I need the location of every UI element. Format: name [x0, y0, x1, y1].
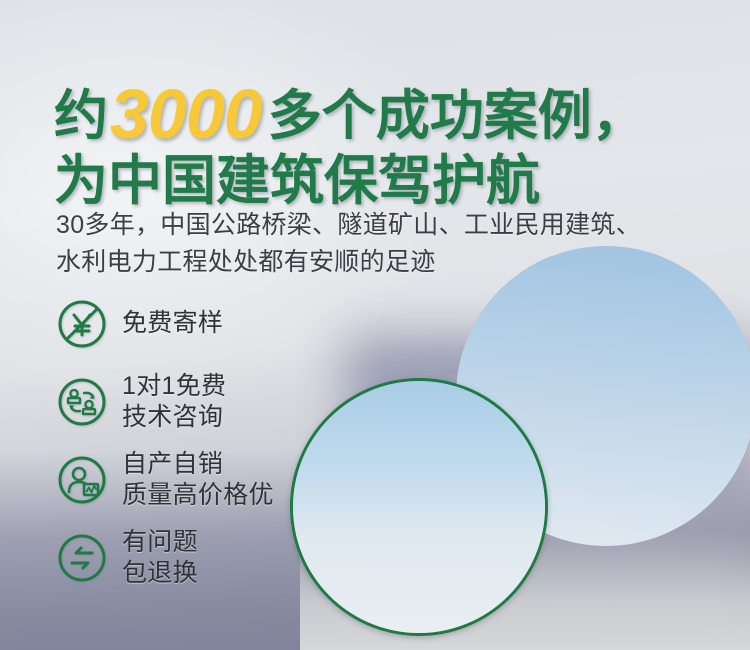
- headline: 约3000多个成功案例， 为中国建筑保驾护航: [54, 78, 646, 209]
- feature-label-line-2: 包退换: [122, 558, 198, 590]
- promo-banner: 约3000多个成功案例， 为中国建筑保驾护航 30多年，中国公路桥梁、隧道矿山、…: [0, 0, 750, 650]
- headline-line-2: 为中国建筑保驾护航: [54, 153, 646, 209]
- headline-line-1: 约3000多个成功案例，: [54, 78, 646, 151]
- subtitle: 30多年，中国公路桥梁、隧道矿山、工业民用建筑、 水利电力工程处处都有安顺的足迹: [56, 207, 716, 281]
- feature-label-line-2: 质量高价格优: [122, 480, 274, 512]
- headline-line2-text: 为中国建筑保驾护航: [54, 151, 540, 211]
- feature-item-self-produce: 自产自销 质量高价格优: [56, 450, 356, 510]
- subtitle-line-2: 水利电力工程处处都有安顺的足迹: [56, 244, 716, 281]
- feature-item-return-exchange: 有问题 包退换: [56, 528, 356, 588]
- feature-label-line-2: 技术咨询: [122, 402, 226, 434]
- feature-label-self-produce: 自产自销 质量高价格优: [122, 449, 274, 512]
- feature-label-line-1: 自产自销: [122, 449, 274, 481]
- feature-label-line-1: 免费寄样: [122, 308, 223, 340]
- no-fee-yuan-icon: [56, 298, 108, 350]
- one-on-one-consult-icon: [56, 376, 108, 428]
- feature-item-consult: 1对1免费 技术咨询: [56, 372, 356, 432]
- feature-label-line-1: 有问题: [122, 527, 198, 559]
- headline-number: 3000: [108, 75, 268, 153]
- return-exchange-icon: [56, 532, 108, 584]
- feature-list: 免费寄样: [56, 296, 356, 588]
- feature-label-return-exchange: 有问题 包退换: [122, 527, 198, 590]
- feature-label-consult: 1对1免费 技术咨询: [122, 371, 226, 434]
- feature-label-line-1: 1对1免费: [122, 371, 226, 403]
- subtitle-line-1: 30多年，中国公路桥梁、隧道矿山、工业民用建筑、: [56, 207, 716, 244]
- self-produce-sell-icon: [56, 454, 108, 506]
- feature-label-free-sample: 免费寄样: [122, 308, 223, 340]
- feature-item-free-sample: 免费寄样: [56, 296, 356, 352]
- headline-prefix: 约: [54, 86, 108, 146]
- headline-suffix: 多个成功案例，: [268, 86, 646, 146]
